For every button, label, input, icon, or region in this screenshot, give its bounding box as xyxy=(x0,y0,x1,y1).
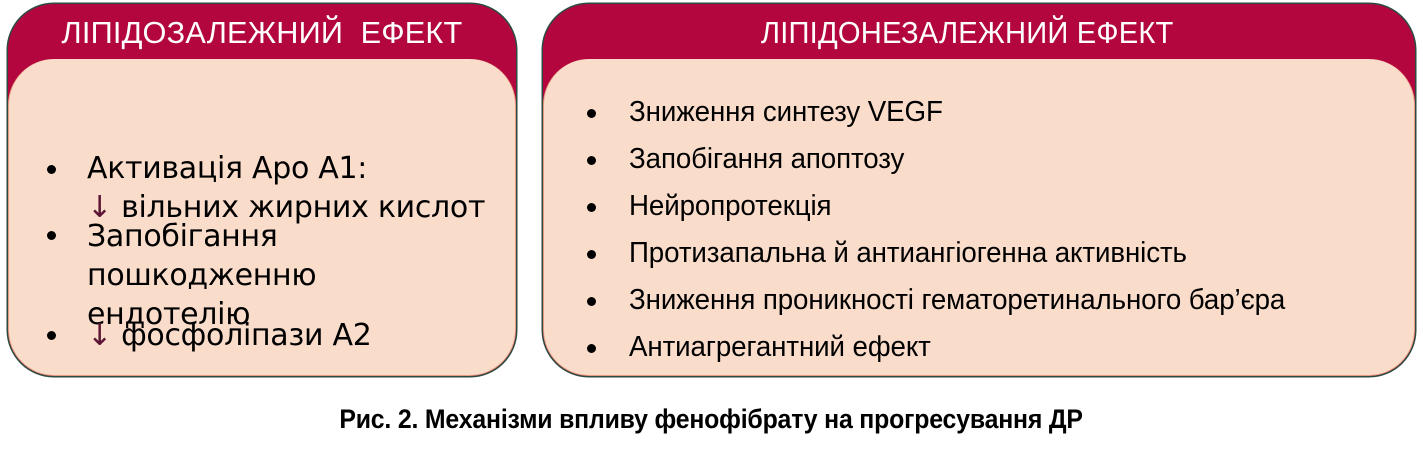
bullet-dot-icon xyxy=(47,331,56,340)
bullet-dot-icon xyxy=(587,156,596,165)
figure-caption: Рис. 2. Механізми впливу фенофібрату на … xyxy=(0,404,1423,435)
panel-lipid-dependent-body: Активація Apo A1: ↓ вільних жирних кисло… xyxy=(8,59,516,376)
arrow-down-icon: ↓ xyxy=(87,318,121,353)
list-item-content: Зниження проникності гематоретинального … xyxy=(629,283,1369,317)
list-item-line-1: Активація Apo A1: xyxy=(87,151,367,186)
bullet-dot-icon xyxy=(47,165,56,174)
list-item: Протизапальна й антиангіогенна активніст… xyxy=(544,236,1414,274)
panel-lipid-independent-title: ЛІПІДОНЕЗАЛЕЖНИЙ ЕФЕКТ xyxy=(569,4,1389,62)
list-item-line-1: Запобігання пошкодженню xyxy=(87,219,316,293)
bullet-dot-icon xyxy=(587,109,596,118)
list-item-content: Зниження синтезу VEGF xyxy=(629,95,1369,129)
bullet-dot-icon xyxy=(587,344,596,353)
list-item-content: ↓ фосфоліпази А2 xyxy=(87,316,503,355)
bullet-dot-icon xyxy=(587,297,596,306)
list-item-content: Запобігання апоптозу xyxy=(629,142,1369,176)
list-item: Нейропротекція xyxy=(544,189,1414,227)
list-item-content: Антиагрегантний ефект xyxy=(629,330,1369,364)
bullet-dot-icon xyxy=(47,231,56,240)
list-item: Антиагрегантний ефект xyxy=(544,330,1414,368)
list-item: Запобігання апоптозу xyxy=(544,142,1414,180)
panel-lipid-independent-effect: ЛІПІДОНЕЗАЛЕЖНИЙ ЕФЕКТ Зниження синтезу … xyxy=(543,4,1415,376)
list-item-content: Протизапальна й антиангіогенна активніст… xyxy=(629,236,1369,270)
list-item: Зниження проникності гематоретинального … xyxy=(544,283,1414,321)
list-item-line-1: фосфоліпази А2 xyxy=(121,318,371,353)
list-item: Зниження синтезу VEGF xyxy=(544,95,1414,133)
list-item-content: Активація Apo A1: ↓ вільних жирних кисло… xyxy=(87,149,503,227)
panel-lipid-dependent-effect: ЛІПІДОЗАЛЕЖНИЙ ЕФЕКТ Активація Apo A1: ↓… xyxy=(8,4,516,376)
panel-lipid-independent-body: Зниження синтезу VEGF Запобігання апопто… xyxy=(543,59,1415,376)
bullet-dot-icon xyxy=(587,250,596,259)
panel-lipid-dependent-title: ЛІПІДОЗАЛЕЖНИЙ ЕФЕКТ xyxy=(11,4,514,62)
list-item-content: Нейропротекція xyxy=(629,189,1369,223)
bullet-dot-icon xyxy=(587,203,596,212)
figure-caption-text: Рис. 2. Механізми впливу фенофібрату на … xyxy=(340,404,1083,435)
